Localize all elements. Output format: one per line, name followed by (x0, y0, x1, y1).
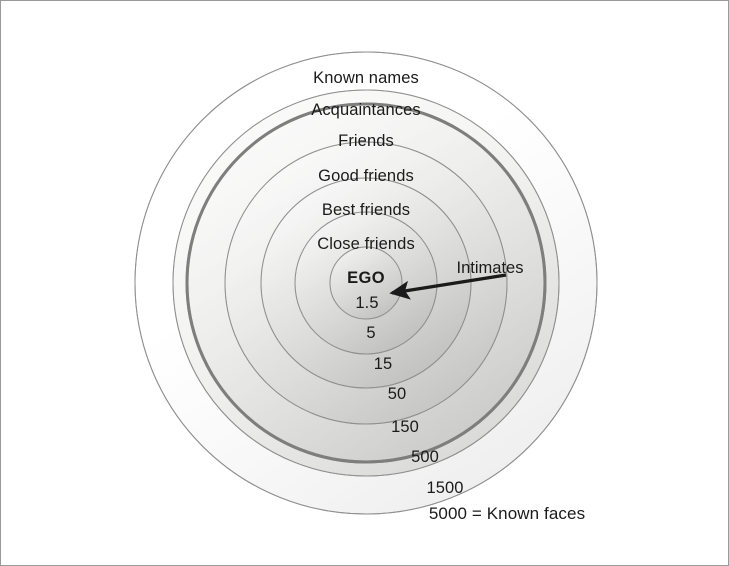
ring-number-good-friends: 50 (388, 386, 407, 403)
known-faces-caption: 5000 = Known faces (429, 505, 585, 522)
ring-label-acquaintances: Acquaintances (311, 102, 421, 119)
figure-canvas: Known names Acquaintances Friends Good f… (0, 0, 729, 566)
ring-number-friends: 150 (391, 419, 419, 436)
ring-label-friends: Friends (338, 133, 394, 150)
ring-label-best-friends: Best friends (322, 202, 410, 219)
ring-number-known-names: 1500 (426, 480, 463, 497)
intimates-callout-label: Intimates (457, 260, 524, 277)
ring-number-acquaintances: 500 (411, 449, 439, 466)
ego-label: EGO (347, 270, 385, 287)
ring-number-best-friends: 15 (374, 356, 393, 373)
ring-number-close-friends: 5 (366, 325, 375, 342)
ring-number-intimates: 1.5 (355, 295, 378, 312)
ring-label-good-friends: Good friends (318, 168, 414, 185)
ring-label-close-friends: Close friends (317, 236, 415, 253)
ring-label-known-names: Known names (313, 70, 419, 87)
